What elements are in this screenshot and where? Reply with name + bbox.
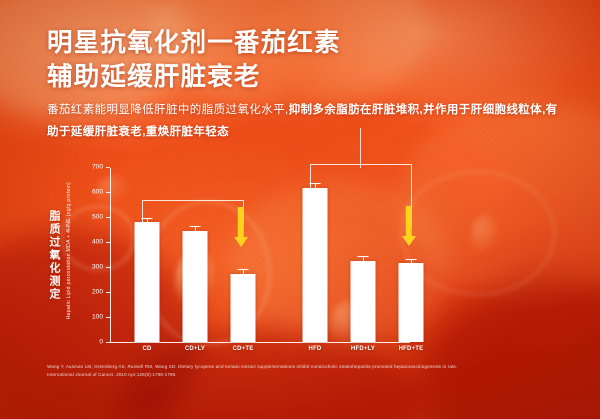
bar-slot-cd: CD bbox=[124, 168, 170, 342]
significance-bracket-cd bbox=[142, 200, 244, 225]
significance-bracket-hfd bbox=[310, 164, 412, 227]
headline-line-2: 辅助延缓肝脏衰老 bbox=[47, 61, 341, 95]
poster-canvas: 明星抗氧化剂一番茄红素 辅助延缓肝脏衰老 番茄红素能明显降低肝脏中的脂质过氧化水… bbox=[0, 0, 600, 419]
error-bar-cd-te bbox=[238, 269, 249, 270]
y-tick-label-200: 200 bbox=[92, 289, 103, 296]
subcopy: 番茄红素能明显降低肝脏中的脂质过氧化水平,抑制多余脂肪在肝脏堆积,并作用于肝细胞… bbox=[47, 99, 567, 144]
citation-line-2: International Journal of Cancer. 2010 Ap… bbox=[47, 371, 547, 379]
error-bar-cd-ly bbox=[190, 226, 201, 227]
y-tick-label-600: 600 bbox=[92, 189, 103, 196]
x-tick-label-hfd-te: HFD+TE bbox=[399, 346, 424, 352]
headline-line-1: 明星抗氧化剂一番茄红素 bbox=[47, 29, 341, 57]
citation: Wang Y, Ausman LM, Greenberg AS, Russell… bbox=[47, 363, 547, 380]
x-tick-label-hfd: HFD bbox=[309, 346, 322, 352]
y-tick-label-300: 300 bbox=[92, 264, 103, 271]
y-axis-label-english: Hepatic Lipid peroxidation MDA + 4HNE (n… bbox=[66, 182, 72, 319]
x-tick-label-hfd-ly: HFD+LY bbox=[351, 346, 375, 352]
bar-hfd-te bbox=[399, 263, 424, 342]
error-bar-hfd-te bbox=[406, 259, 417, 260]
y-tick-label-100: 100 bbox=[92, 314, 103, 321]
x-tick-label-cd-ly: CD+LY bbox=[185, 346, 205, 352]
bar-slot-cd-ly: CD+LY bbox=[172, 168, 218, 342]
plot-area: 0 100 200 300 400 500 600 700 CD CD+LY bbox=[110, 168, 410, 343]
arrow-leader-line-hfd bbox=[360, 128, 361, 168]
y-tick-0: 0 bbox=[106, 342, 110, 343]
y-axis-label-chinese: 脂质过氧化测定 bbox=[46, 210, 62, 301]
y-tick-label-400: 400 bbox=[92, 239, 103, 246]
subcopy-part-1: 番茄红素能明显降低肝脏中的脂质过氧化水平, bbox=[47, 104, 289, 116]
bar-cd bbox=[135, 222, 160, 342]
bar-cd-te bbox=[231, 274, 256, 342]
x-tick-label-cd-te: CD+TE bbox=[233, 346, 254, 352]
bar-hfd-ly bbox=[351, 261, 376, 342]
headline: 明星抗氧化剂一番茄红素 辅助延缓肝脏衰老 bbox=[47, 27, 341, 94]
y-tick-label-700: 700 bbox=[92, 164, 103, 171]
bar-slot-cd-te: CD+TE bbox=[220, 168, 266, 342]
citation-line-1: Wang Y, Ausman LM, Greenberg AS, Russell… bbox=[47, 363, 547, 371]
y-tick-label-0: 0 bbox=[99, 339, 103, 346]
chart: 脂质过氧化测定 Hepatic Lipid peroxidation MDA +… bbox=[44, 160, 554, 360]
y-tick-label-500: 500 bbox=[92, 214, 103, 221]
error-bar-hfd-ly bbox=[358, 256, 369, 257]
bar-cd-ly bbox=[183, 231, 208, 342]
x-tick-label-cd: CD bbox=[142, 346, 151, 352]
